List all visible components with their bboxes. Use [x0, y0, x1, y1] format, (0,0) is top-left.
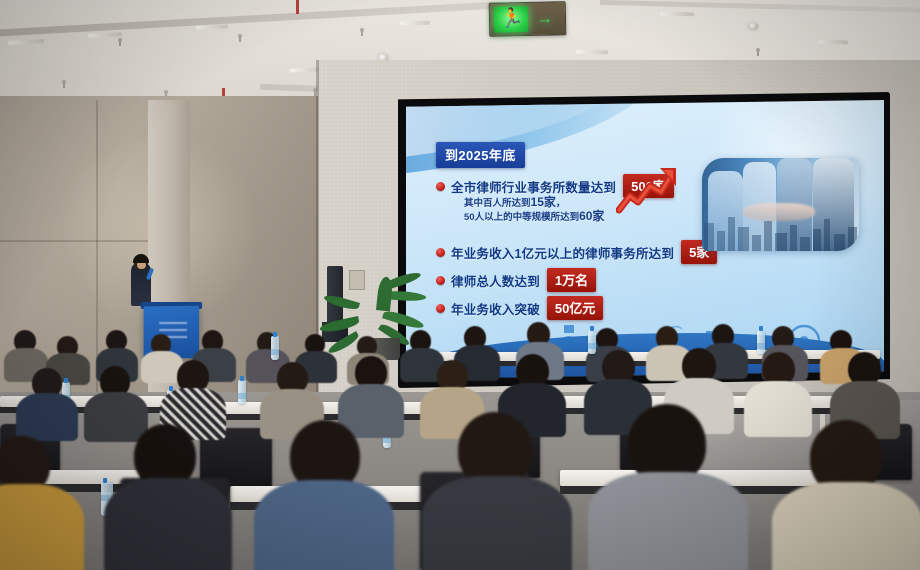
wall-panel-seam: [96, 100, 98, 396]
subtext-1-prefix: 其中百人所达到: [464, 198, 531, 209]
ceiling-pipe: [296, 0, 299, 14]
ceiling-lightbar: [400, 21, 430, 26]
ceiling-lightbar: [196, 24, 228, 29]
person-body: [104, 478, 232, 570]
wall-panel-seam: [0, 240, 150, 242]
bullet-dot-icon: [436, 276, 445, 285]
ceiling-downlight: [748, 23, 758, 30]
person-body: [0, 484, 84, 570]
emergency-exit-sign: 🏃 →: [489, 1, 567, 37]
ceiling-lightbar: [818, 39, 848, 44]
water-bottle: [757, 330, 765, 354]
exit-arrow-icon: →: [536, 10, 560, 26]
person-body: [772, 482, 920, 570]
ceiling-lightbar: [576, 50, 608, 55]
person-body: [254, 480, 394, 570]
bullet-4-text: 年业务收入突破: [451, 299, 540, 318]
photo-sheen: [702, 158, 859, 251]
sprinkler-head: [360, 28, 364, 32]
ceiling-lightbar: [88, 32, 122, 38]
person-body: [84, 392, 148, 442]
slide-bullet-3: 律师总人数达到 1万名: [436, 268, 596, 292]
slide-header-badge: 到2025年底: [436, 142, 525, 168]
person-body: [16, 393, 78, 441]
bullet-dot-icon: [436, 248, 445, 257]
sprinkler-head: [238, 34, 242, 38]
sprinkler-head: [756, 48, 760, 52]
slide-photo-inset: [702, 158, 859, 251]
person-body: [744, 381, 812, 437]
subtext-2-value: 60家: [579, 209, 604, 223]
ceiling-rail: [600, 0, 920, 13]
water-bottle: [238, 380, 246, 404]
person-body: [422, 476, 572, 570]
bullet-dot-icon: [436, 182, 445, 191]
palm-frond: [376, 276, 393, 311]
water-bottle: [271, 336, 279, 360]
ceiling-lightbar: [8, 39, 44, 45]
ceiling-lightbar: [660, 12, 694, 17]
bullet-2-text: 年业务收入1亿元以上的律师事务所达到: [451, 243, 674, 262]
presenter-hair: [133, 254, 149, 263]
bullet-dot-icon: [436, 304, 445, 313]
bullet-1-text: 全市律师行业事务所数量达到: [451, 177, 616, 196]
bullet-3-text: 律师总人数达到: [451, 271, 540, 290]
water-bottle: [588, 330, 596, 354]
sprinkler-head: [164, 90, 168, 94]
running-man-icon: 🏃: [500, 8, 520, 29]
screenshot-root: 🏃 → 到2025年底 全市律师行业事务所数量达到 500家: [0, 0, 920, 570]
subtext-1-suffix: ，: [556, 198, 566, 209]
bullet-3-value-chip: 1万名: [547, 268, 596, 292]
slide-subtext-line-2: 50人以上的中等规模所达到60家: [464, 210, 604, 224]
slide-bullet-2: 年业务收入1亿元以上的律师事务所达到 5家: [436, 240, 717, 264]
slide-subtext: 其中百人所达到15家， 50人以上的中等规模所达到60家: [464, 196, 604, 224]
slide-subtext-line-1: 其中百人所达到15家，: [464, 196, 604, 210]
sprinkler-head: [62, 80, 66, 84]
subtext-2-prefix: 50人以上的中等规模所达到: [464, 212, 579, 223]
sprinkler-head: [118, 38, 122, 42]
person-body: [588, 472, 748, 570]
subtext-1-value: 15家: [531, 195, 556, 209]
red-growth-arrow-icon: [616, 166, 678, 214]
ceiling-rail: [0, 1, 500, 37]
